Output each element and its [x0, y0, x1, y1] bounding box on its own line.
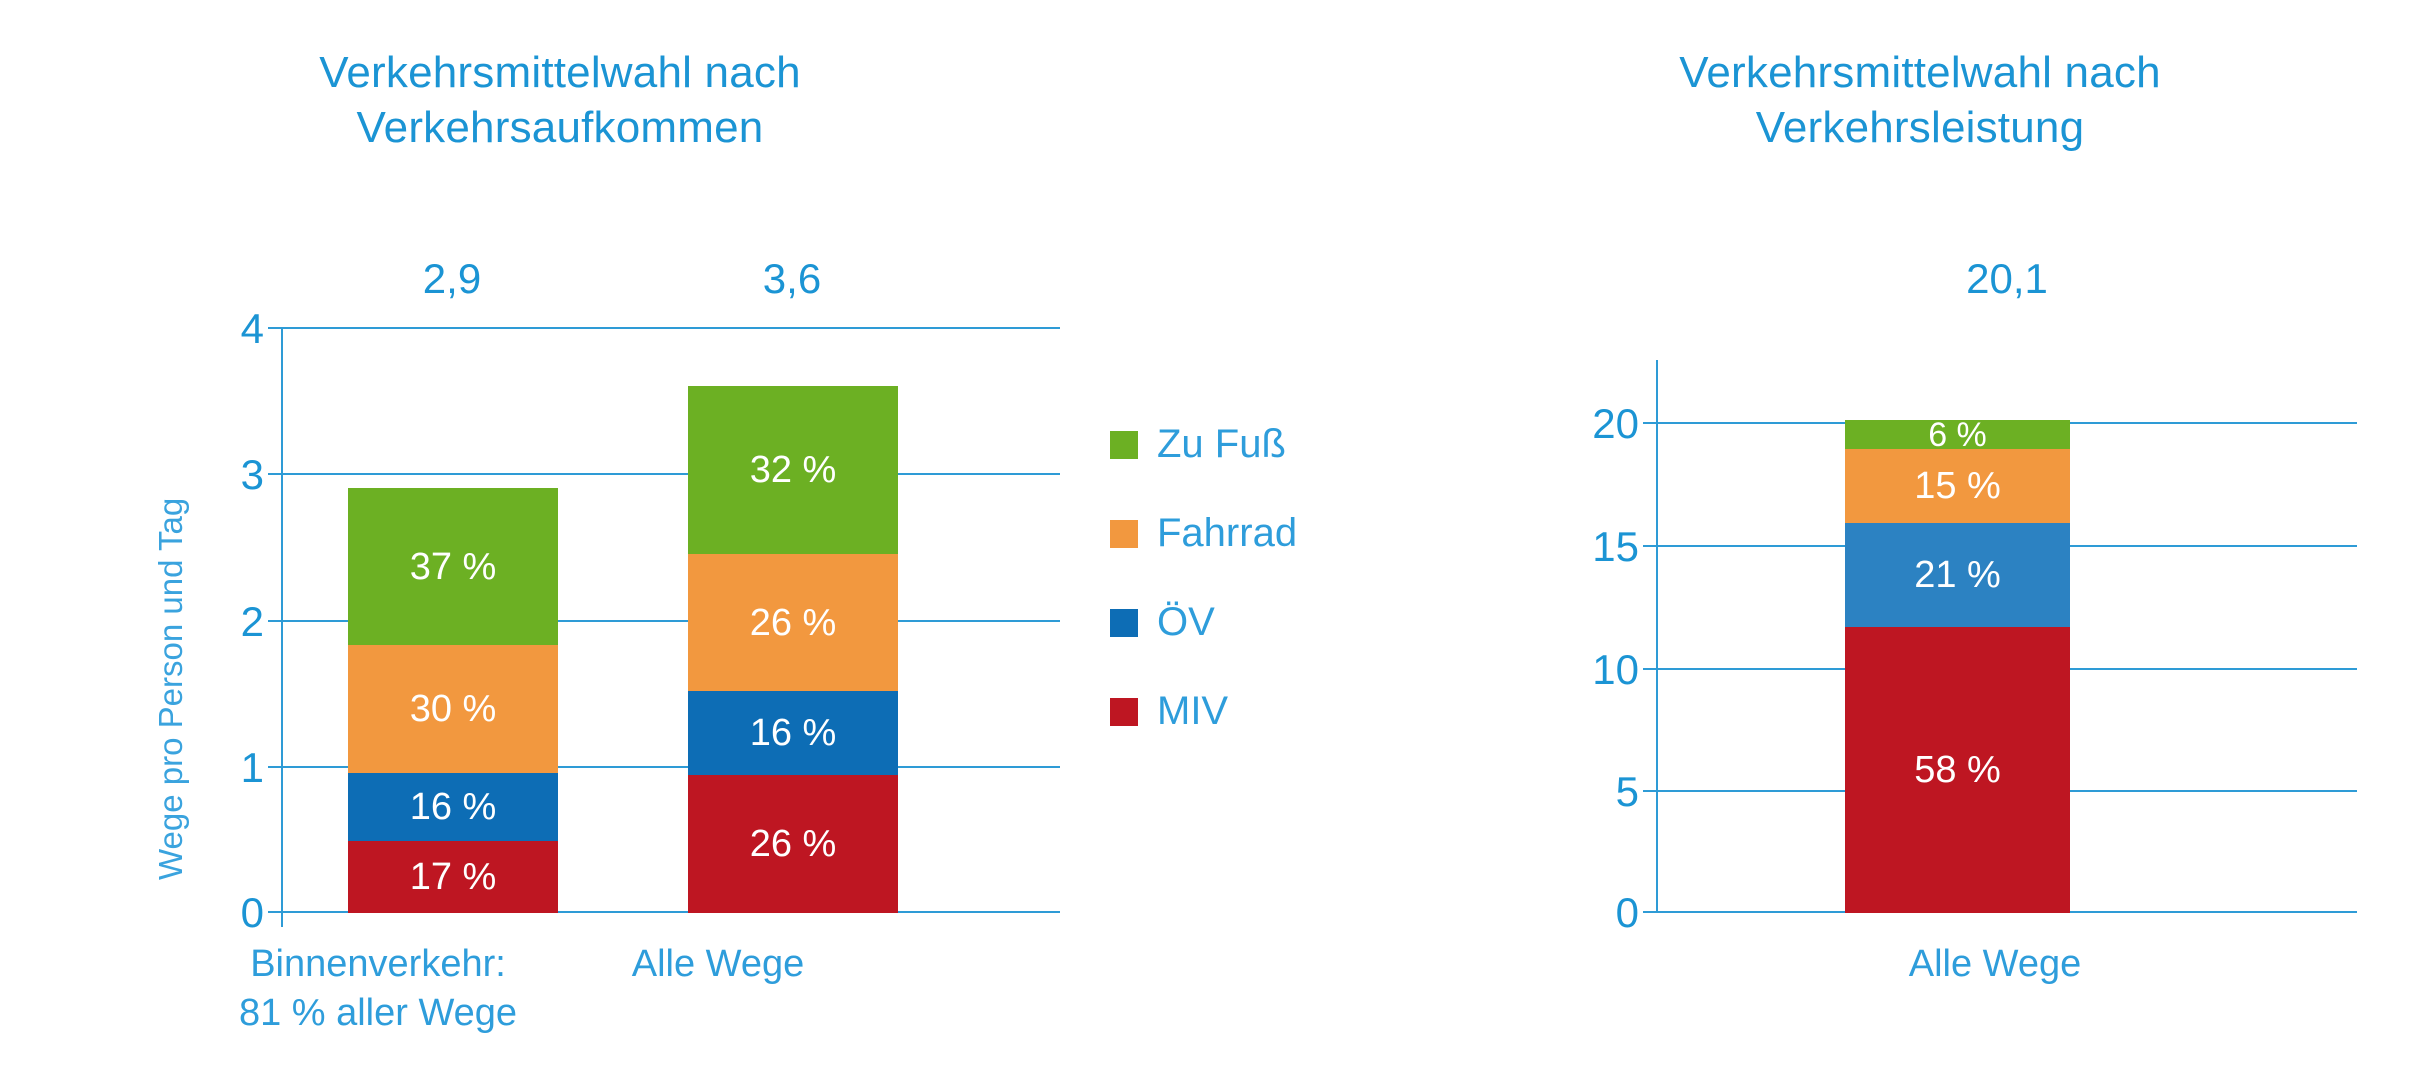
y-tick-label: 4 — [241, 305, 264, 353]
y-tick-label: 15 — [1592, 523, 1639, 571]
legend-label: Fahrrad — [1157, 511, 1297, 556]
stacked-bar-binnenverkehr[interactable]: 17 % 16 % 30 % 37 % — [348, 488, 558, 913]
y-tick-mark — [1643, 911, 1657, 913]
y-tick-mark — [1643, 422, 1657, 424]
legend-item-miv[interactable]: MIV — [1110, 667, 1410, 756]
bar-segment-miv[interactable]: 58 % — [1845, 627, 2070, 913]
bar-segment-zu-fuss[interactable]: 32 % — [688, 386, 898, 554]
legend-swatch-icon — [1110, 431, 1138, 459]
bar-segment-zu-fuss[interactable]: 37 % — [348, 488, 558, 645]
bar-segment-zu-fuss[interactable]: 6 % — [1845, 420, 2070, 449]
bar-segment-fahrrad[interactable]: 30 % — [348, 645, 558, 773]
y-axis-title-left: Wege pro Person und Tag — [152, 498, 190, 880]
plot-area-left: 4 3 2 1 0 17 % 16 % 30 % 37 % 26 % 16 % … — [282, 327, 1060, 913]
chart-title-verkehrsaufkommen: Verkehrsmittelwahl nach Verkehrsaufkomme… — [140, 45, 980, 155]
y-tick-label: 0 — [1616, 889, 1639, 937]
gridline-4 — [282, 327, 1060, 329]
y-tick-label: 3 — [241, 451, 264, 499]
chart-page: Verkehrsmittelwahl nach Verkehrsaufkomme… — [0, 0, 2434, 1080]
y-axis-line-left — [281, 327, 283, 927]
legend: Zu Fuß Fahrrad ÖV MIV — [1110, 400, 1410, 756]
legend-swatch-icon — [1110, 609, 1138, 637]
y-tick-label: 0 — [241, 889, 264, 937]
bar-segment-oev[interactable]: 21 % — [1845, 523, 2070, 627]
legend-swatch-icon — [1110, 698, 1138, 726]
x-category-label-alle-wege: Alle Wege — [1645, 940, 2345, 989]
y-tick-mark — [1643, 668, 1657, 670]
y-tick-mark — [268, 620, 282, 622]
stacked-bar-alle-wege[interactable]: 26 % 16 % 26 % 32 % — [688, 386, 898, 913]
bar-segment-oev[interactable]: 16 % — [348, 773, 558, 841]
x-category-label-alle-wege: Alle Wege — [518, 940, 918, 989]
bar-total-label: 2,9 — [282, 255, 622, 303]
chart-panel-verkehrsleistung: Verkehrsmittelwahl nach Verkehrsleistung… — [1400, 0, 2434, 1080]
stacked-bar-alle-wege[interactable]: 58 % 21 % 15 % 6 % — [1845, 420, 2070, 913]
y-tick-mark — [268, 327, 282, 329]
legend-item-zu-fuss[interactable]: Zu Fuß — [1110, 400, 1410, 489]
legend-item-fahrrad[interactable]: Fahrrad — [1110, 489, 1410, 578]
bar-segment-miv[interactable]: 26 % — [688, 775, 898, 913]
bar-segment-fahrrad[interactable]: 26 % — [688, 554, 898, 691]
y-tick-mark — [1643, 790, 1657, 792]
legend-swatch-icon — [1110, 520, 1138, 548]
bar-total-label: 20,1 — [1657, 255, 2357, 303]
bar-segment-miv[interactable]: 17 % — [348, 841, 558, 913]
bar-total-label: 3,6 — [622, 255, 962, 303]
y-tick-label: 10 — [1592, 646, 1639, 694]
y-tick-mark — [268, 911, 282, 913]
legend-label: ÖV — [1157, 600, 1215, 645]
y-tick-mark — [268, 766, 282, 768]
gridline-3 — [282, 473, 1060, 475]
legend-label: Zu Fuß — [1157, 422, 1286, 467]
bar-segment-oev[interactable]: 16 % — [688, 691, 898, 775]
y-tick-label: 2 — [241, 598, 264, 646]
legend-label: MIV — [1157, 689, 1228, 734]
y-tick-label: 20 — [1592, 400, 1639, 448]
chart-title-verkehrsleistung: Verkehrsmittelwahl nach Verkehrsleistung — [1500, 45, 2340, 155]
plot-area-right: 20 15 10 5 0 58 % 21 % 15 % 6 % — [1657, 373, 2357, 913]
y-tick-label: 1 — [241, 744, 264, 792]
legend-item-oev[interactable]: ÖV — [1110, 578, 1410, 667]
y-tick-mark — [268, 473, 282, 475]
chart-panel-verkehrsaufkommen: Verkehrsmittelwahl nach Verkehrsaufkomme… — [0, 0, 1400, 1080]
y-axis-line-right — [1656, 360, 1658, 913]
y-tick-label: 5 — [1616, 768, 1639, 816]
bar-segment-fahrrad[interactable]: 15 % — [1845, 449, 2070, 523]
y-tick-mark — [1643, 545, 1657, 547]
